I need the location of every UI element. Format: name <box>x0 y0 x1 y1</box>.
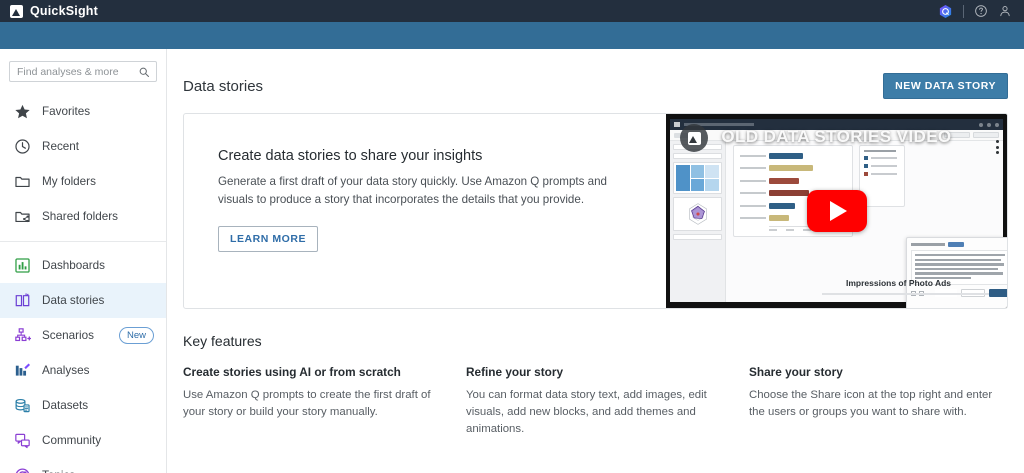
treemap-cell <box>705 179 719 192</box>
dashboard-icon <box>14 257 31 274</box>
sidebar-item-label: Datasets <box>42 399 88 412</box>
left-sidebar: Favorites Recent My folders <box>0 49 167 473</box>
treemap-cell <box>691 165 705 178</box>
legend-entry <box>864 156 900 160</box>
bar <box>769 178 799 184</box>
bar-chart-row <box>740 164 846 173</box>
help-circle-icon[interactable] <box>974 4 988 18</box>
sidebar-item-label: Dashboards <box>42 259 105 272</box>
chart-logo-icon <box>10 5 23 18</box>
main-content: Data stories NEW DATA STORY Create data … <box>167 49 1024 473</box>
popup-title-text <box>911 243 945 246</box>
new-data-story-button[interactable]: NEW DATA STORY <box>883 73 1008 99</box>
sidebar-item-label: Topics <box>42 469 75 473</box>
kebab-dot <box>996 151 999 154</box>
sidebar-item-community[interactable]: Community <box>0 423 166 458</box>
key-feature-column: Create stories using AI or from scratch … <box>183 365 466 438</box>
bar-label <box>740 205 766 207</box>
legend-label <box>871 173 897 175</box>
popup-header <box>911 242 1007 247</box>
bar <box>769 153 803 159</box>
sidebar-nav-primary: Favorites Recent My folders <box>0 92 166 473</box>
shared-folder-icon <box>14 208 31 225</box>
bar-label <box>740 155 766 157</box>
brand-name: QuickSight <box>30 4 98 18</box>
key-features-grid: Create stories using AI or from scratch … <box>183 365 1008 438</box>
treemap-cell <box>676 165 690 191</box>
legend-swatch <box>864 172 868 176</box>
sidebar-item-data-stories[interactable]: Data stories <box>0 283 166 318</box>
sidebar-item-topics[interactable]: Topics <box>0 458 166 473</box>
sidebar-item-shared-folders[interactable]: Shared folders <box>0 199 166 234</box>
sidebar-item-scenarios[interactable]: Scenarios New <box>0 318 166 353</box>
video-mock-subtoolbar <box>670 130 1003 141</box>
search-icon[interactable] <box>138 66 150 78</box>
video-mock-preview-button <box>944 132 970 138</box>
sidebar-search-wrap <box>0 49 166 92</box>
treemap-cell <box>691 179 705 192</box>
youtube-play-icon[interactable] <box>807 190 867 232</box>
radar-chart-icon <box>683 201 713 227</box>
video-mock-topbar-icons <box>979 123 999 127</box>
sidebar-item-label: Data stories <box>42 294 104 307</box>
hero-body: Generate a first draft of your data stor… <box>218 173 628 208</box>
status-badge-new: New <box>119 327 154 344</box>
learn-more-button[interactable]: LEARN MORE <box>218 226 318 252</box>
sidebar-item-dashboards[interactable]: Dashboards <box>0 248 166 283</box>
legend-swatch <box>864 156 868 160</box>
key-feature-body: Use Amazon Q prompts to create the first… <box>183 387 442 421</box>
rail-card-pixel-performance <box>673 197 722 231</box>
sidebar-item-label: Recent <box>42 140 79 153</box>
topics-icon <box>14 467 31 473</box>
popup-line <box>915 259 1001 261</box>
quicksight-app: QuickSight <box>0 0 1024 473</box>
user-account-icon[interactable] <box>998 4 1012 18</box>
popup-line <box>915 263 1004 265</box>
radar-visual <box>676 200 719 228</box>
popup-badge <box>948 242 964 247</box>
kebab-dot <box>996 140 999 143</box>
key-feature-column: Refine your story You can format data st… <box>466 365 749 438</box>
popup-line <box>915 272 1003 274</box>
rail-card-treemap <box>673 162 722 194</box>
sidebar-item-label: Analyses <box>42 364 89 377</box>
bar-chart-row <box>740 151 846 160</box>
video-mock-icon-dot <box>979 123 983 127</box>
legend-title <box>864 150 896 152</box>
bar-label <box>740 192 766 194</box>
search-box[interactable] <box>9 61 157 82</box>
brand-logo-area[interactable]: QuickSight <box>0 4 98 18</box>
rail-card-impressions-video-ads <box>673 234 722 240</box>
video-frame: Impressions of Photo Ads OLD DATA STORIE… <box>666 114 1007 308</box>
key-feature-heading: Create stories using AI or from scratch <box>183 365 442 379</box>
video-mock-subbar-buttons <box>944 132 999 138</box>
sidebar-item-label: Scenarios <box>42 329 94 342</box>
axis-tick <box>769 229 777 231</box>
key-feature-heading: Share your story <box>749 365 1008 379</box>
legend-entry <box>864 172 900 176</box>
toolbar-divider <box>963 5 964 18</box>
search-input[interactable] <box>10 66 156 78</box>
video-mock-visuals-rail <box>670 141 726 302</box>
video-thumbnail[interactable]: Impressions of Photo Ads OLD DATA STORIE… <box>666 114 1007 308</box>
video-mock-icon-dot <box>995 123 999 127</box>
bar <box>769 165 813 171</box>
key-feature-heading: Refine your story <box>466 365 725 379</box>
video-inner-heading: Impressions of Photo Ads <box>846 278 951 288</box>
page-header: Data stories NEW DATA STORY <box>183 71 1008 101</box>
legend-entry <box>864 164 900 168</box>
more-options-icon[interactable] <box>996 140 999 154</box>
topbar-actions <box>938 4 1024 19</box>
accept-button[interactable] <box>989 289 1007 297</box>
clock-icon <box>14 138 31 155</box>
video-mock-logo-icon <box>674 122 680 127</box>
video-channel-badge-icon <box>680 124 708 152</box>
legend-title-row <box>864 150 900 152</box>
video-mock-icon-dot <box>987 123 991 127</box>
sidebar-item-my-folders[interactable]: My folders <box>0 164 166 199</box>
treemap-cell <box>705 165 719 178</box>
bar <box>769 203 795 209</box>
video-inner-divider <box>822 293 989 295</box>
legend-swatch <box>864 164 868 168</box>
treemap-visual <box>676 165 719 191</box>
popup-line <box>915 268 998 270</box>
sidebar-item-label: My folders <box>42 175 96 188</box>
key-feature-column: Share your story Choose the Share icon a… <box>749 365 1008 438</box>
analyses-icon <box>14 362 31 379</box>
scenarios-icon <box>14 327 31 344</box>
hero-text-area: Create data stories to share your insigh… <box>184 114 666 308</box>
bar-label <box>740 167 766 169</box>
hero-heading: Create data stories to share your insigh… <box>218 148 636 164</box>
popup-line <box>915 254 1005 256</box>
key-feature-body: Choose the Share icon at the top right a… <box>749 387 1008 421</box>
hero-card: Create data stories to share your insigh… <box>183 113 1008 309</box>
page-title: Data stories <box>183 78 263 95</box>
sidebar-item-recent[interactable]: Recent <box>0 129 166 164</box>
bar-label <box>740 180 766 182</box>
key-feature-body: You can format data story text, add imag… <box>466 387 725 438</box>
secondary-blue-band <box>0 22 1024 49</box>
sidebar-item-label: Favorites <box>42 105 90 118</box>
bar <box>769 215 789 221</box>
sidebar-item-datasets[interactable]: Datasets <box>0 388 166 423</box>
kebab-dot <box>996 146 999 149</box>
legend-label <box>871 157 897 159</box>
sidebar-item-label: Shared folders <box>42 210 118 223</box>
sidebar-item-analyses[interactable]: Analyses <box>0 353 166 388</box>
star-icon <box>14 103 31 120</box>
sidebar-divider <box>0 241 166 242</box>
edit-narrative-popup[interactable] <box>906 237 1007 308</box>
top-navigation-bar: QuickSight <box>0 0 1024 22</box>
video-mock-share-button <box>973 132 999 138</box>
bar-chart-row <box>740 176 846 185</box>
sidebar-item-favorites[interactable]: Favorites <box>0 94 166 129</box>
amazon-q-icon[interactable] <box>938 4 953 19</box>
bar <box>769 190 809 196</box>
community-icon <box>14 432 31 449</box>
video-mock-topbar <box>670 119 1003 130</box>
rail-card-bottom-ads <box>673 153 722 159</box>
legend-label <box>871 165 897 167</box>
datasets-icon <box>14 397 31 414</box>
bar-label <box>740 217 766 219</box>
book-icon <box>14 292 31 309</box>
axis-tick <box>786 229 794 231</box>
sidebar-item-label: Community <box>42 434 101 447</box>
key-features-title: Key features <box>183 333 1008 349</box>
folder-icon <box>14 173 31 190</box>
